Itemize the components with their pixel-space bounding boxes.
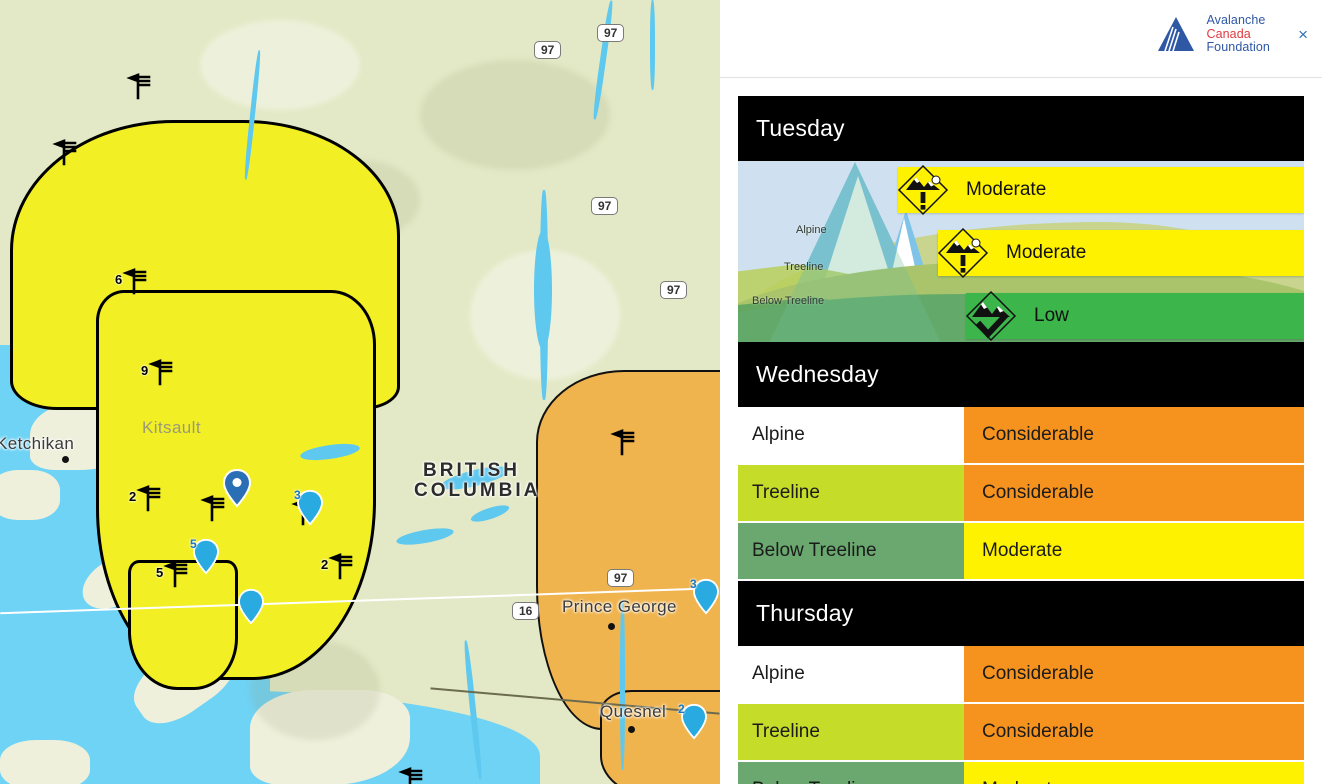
table-row[interactable]: Below Treeline Moderate <box>738 762 1304 784</box>
map-island-2 <box>0 470 60 520</box>
map-relief-1 <box>200 20 360 110</box>
panel-header: Avalanche Canada Foundation × <box>720 0 1322 78</box>
logo-line-canada: Canada <box>1206 28 1270 42</box>
tuesday-treeline-rating-bar[interactable]: Moderate <box>938 230 1304 276</box>
wednesday-alpine-rating-cell[interactable]: Considerable <box>964 407 1304 463</box>
map-river-3 <box>650 0 655 90</box>
wednesday-treeline-label: Treeline <box>752 482 820 504</box>
weather-station-icon <box>52 138 82 168</box>
weather-station-icon <box>398 766 428 784</box>
band-label-below-treeline: Below Treeline <box>752 295 824 307</box>
weather-station-marker[interactable]: 9 <box>148 358 178 388</box>
thursday-alpine-label: Alpine <box>752 663 805 685</box>
map-pin-selected[interactable] <box>222 468 248 502</box>
avalanche-canada-foundation-logo[interactable]: Avalanche Canada Foundation <box>1158 14 1270 55</box>
map-pin[interactable]: 2 <box>680 703 706 737</box>
wednesday-alpine-rating-label: Considerable <box>982 424 1094 446</box>
weather-station-count: 2 <box>129 489 136 504</box>
logo-text: Avalanche Canada Foundation <box>1206 14 1270 55</box>
map-pin[interactable] <box>237 588 263 622</box>
highway-shield[interactable]: 97 <box>534 41 561 59</box>
weather-station-icon <box>136 484 166 514</box>
weather-station-marker[interactable] <box>52 138 82 168</box>
map-city-dot-prince-george <box>608 623 615 630</box>
day-header-thursday: Thursday <box>738 581 1304 646</box>
thursday-treeline-rating-label: Considerable <box>982 721 1094 743</box>
thursday-treeline-elevation-cell: Treeline <box>738 704 964 760</box>
close-icon[interactable]: × <box>1298 26 1308 43</box>
highway-shield[interactable]: 97 <box>591 197 618 215</box>
weather-station-count: 5 <box>156 565 163 580</box>
weather-station-marker[interactable] <box>398 766 428 784</box>
table-row[interactable]: Treeline Considerable <box>738 704 1304 762</box>
map-label-province-line2: COLUMBIA <box>414 478 540 503</box>
logo-line-foundation: Foundation <box>1206 41 1270 55</box>
map-river-5 <box>620 600 625 770</box>
wednesday-alpine-label: Alpine <box>752 424 805 446</box>
map-pin[interactable]: 3 <box>692 578 718 612</box>
wednesday-treeline-elevation-cell: Treeline <box>738 465 964 521</box>
avalanche-forecast-map[interactable]: BRITISH COLUMBIA Ketchikan Kitsault Prin… <box>0 0 720 784</box>
wednesday-alpine-elevation-cell: Alpine <box>738 407 964 463</box>
map-pin-count: 3 <box>690 577 697 591</box>
forecast-panel: Avalanche Canada Foundation × Tuesday <box>720 0 1322 784</box>
weather-station-icon <box>126 72 156 102</box>
wednesday-below-treeline-rating-cell[interactable]: Moderate <box>964 523 1304 579</box>
weather-station-marker[interactable]: 2 <box>328 552 358 582</box>
tuesday-alpine-rating-bar[interactable]: Moderate <box>898 167 1304 213</box>
thursday-treeline-rating-cell[interactable]: Considerable <box>964 704 1304 760</box>
thursday-alpine-rating-cell[interactable]: Considerable <box>964 646 1304 702</box>
weather-station-icon <box>122 267 152 297</box>
wednesday-treeline-rating-cell[interactable]: Considerable <box>964 465 1304 521</box>
tuesday-rating-alpine[interactable]: Moderate <box>898 167 1304 213</box>
moderate-warning-icon <box>896 163 950 217</box>
thursday-alpine-elevation-cell: Alpine <box>738 646 964 702</box>
thursday-below-treeline-label: Below Treeline <box>752 779 877 784</box>
low-check-icon <box>964 289 1018 342</box>
day-header-wednesday: Wednesday <box>738 342 1304 407</box>
tuesday-treeline-rating-label: Moderate <box>1006 242 1086 264</box>
location-pin-icon <box>222 468 252 508</box>
logo-line-avalanche: Avalanche <box>1206 14 1270 28</box>
day-header-tuesday: Tuesday <box>738 96 1304 161</box>
weather-station-count: 9 <box>141 363 148 378</box>
weather-station-marker[interactable]: 2 <box>136 484 166 514</box>
wednesday-below-treeline-rating-label: Moderate <box>982 540 1062 562</box>
map-pin[interactable]: 5 <box>192 538 218 572</box>
table-row[interactable]: Alpine Considerable <box>738 646 1304 704</box>
highway-shield[interactable]: 97 <box>597 24 624 42</box>
weather-station-marker[interactable] <box>126 72 156 102</box>
map-label-quesnel: Quesnel <box>600 702 666 722</box>
thursday-alpine-rating-label: Considerable <box>982 663 1094 685</box>
highway-shield[interactable]: 97 <box>607 569 634 587</box>
map-relief-2 <box>420 60 610 170</box>
weather-station-icon <box>163 560 193 590</box>
tuesday-below-treeline-rating-label: Low <box>1034 305 1069 327</box>
band-label-treeline: Treeline <box>784 261 823 273</box>
tuesday-alpine-rating-label: Moderate <box>966 179 1046 201</box>
map-region-considerable[interactable] <box>536 370 720 730</box>
table-row[interactable]: Alpine Considerable <box>738 407 1304 465</box>
map-pin-count: 2 <box>678 702 685 716</box>
map-city-dot-ketchikan <box>62 456 69 463</box>
tuesday-rating-treeline[interactable]: Moderate <box>938 230 1304 276</box>
thursday-below-treeline-rating-label: Moderate <box>982 779 1062 784</box>
table-row[interactable]: Treeline Considerable <box>738 465 1304 523</box>
app-root: BRITISH COLUMBIA Ketchikan Kitsault Prin… <box>0 0 1322 784</box>
weather-station-icon <box>610 428 640 458</box>
map-pin[interactable]: 3 <box>296 489 322 523</box>
thursday-below-treeline-rating-cell[interactable]: Moderate <box>964 762 1304 784</box>
highway-shield[interactable]: 16 <box>512 602 539 620</box>
weather-station-icon <box>148 358 178 388</box>
map-label-kitsault: Kitsault <box>142 418 201 438</box>
map-island-6 <box>0 740 90 784</box>
highway-shield[interactable]: 97 <box>660 281 687 299</box>
thursday-below-treeline-elevation-cell: Below Treeline <box>738 762 964 784</box>
map-label-prince-george: Prince George <box>562 597 677 617</box>
panel-body: Tuesday Alpine Treeline Below Treeline <box>720 78 1322 784</box>
forecast-day-wednesday: Wednesday Alpine Considerable Treeline C… <box>738 342 1304 581</box>
moderate-warning-icon <box>936 226 990 280</box>
weather-station-marker[interactable]: 5 <box>163 560 193 590</box>
map-lake-1 <box>534 230 552 350</box>
map-label-ketchikan: Ketchikan <box>0 434 74 454</box>
forecast-day-tuesday: Tuesday Alpine Treeline Below Treeline <box>738 96 1304 342</box>
location-pin-icon <box>237 588 265 625</box>
wednesday-treeline-rating-label: Considerable <box>982 482 1094 504</box>
tuesday-danger-graphic: Alpine Treeline Below Treeline <box>738 161 1304 342</box>
thursday-treeline-label: Treeline <box>752 721 820 743</box>
weather-station-count: 2 <box>321 557 328 572</box>
map-city-dot-quesnel <box>628 726 635 733</box>
map-pin-count: 3 <box>294 488 301 502</box>
mountain-logo-icon <box>1158 14 1200 54</box>
wednesday-below-treeline-label: Below Treeline <box>752 540 877 562</box>
map-pin-count: 5 <box>190 537 197 551</box>
forecast-day-thursday: Thursday Alpine Considerable Treeline Co… <box>738 581 1304 784</box>
weather-station-count: 6 <box>115 272 122 287</box>
wednesday-below-treeline-elevation-cell: Below Treeline <box>738 523 964 579</box>
band-label-alpine: Alpine <box>796 224 827 236</box>
tuesday-rating-below-treeline[interactable]: Low <box>966 293 1304 339</box>
table-row[interactable]: Below Treeline Moderate <box>738 523 1304 581</box>
weather-station-icon <box>328 552 358 582</box>
weather-station-marker[interactable] <box>610 428 640 458</box>
weather-station-marker[interactable]: 6 <box>122 267 152 297</box>
